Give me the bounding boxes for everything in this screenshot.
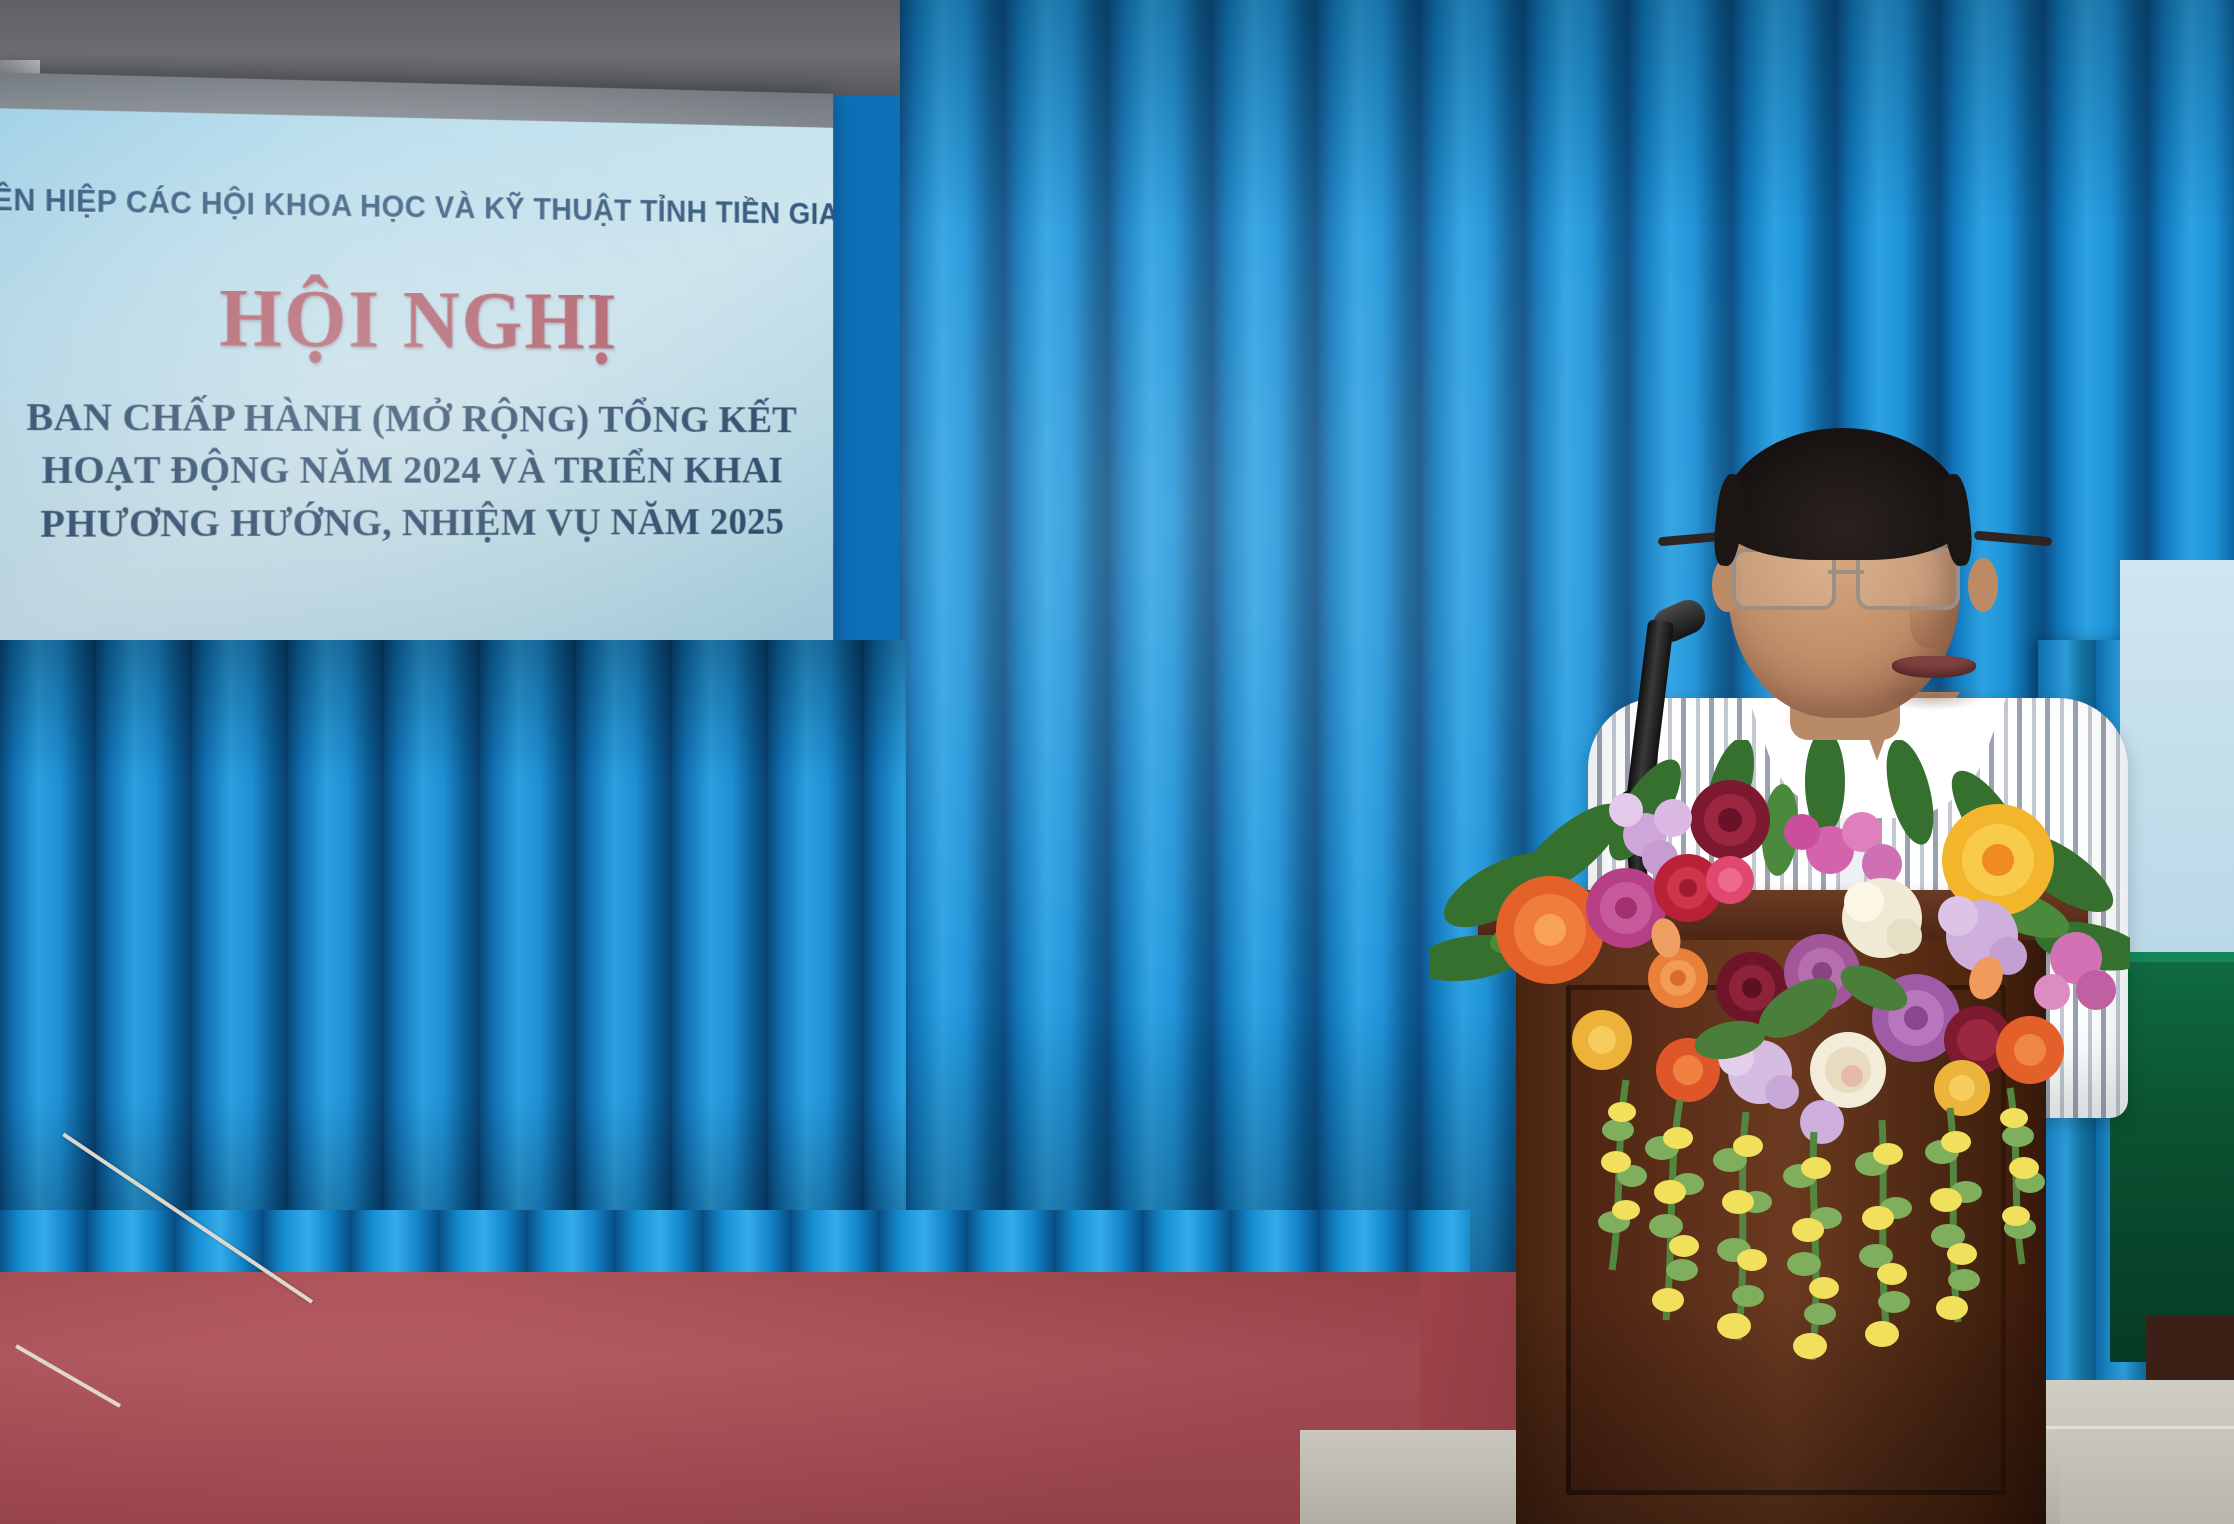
speaker-mouth bbox=[1892, 656, 1976, 678]
flower-pink-cluster bbox=[1784, 812, 1902, 884]
flower-orange-rose-center bbox=[1648, 948, 1708, 1008]
slide-subtitle-block: BAN CHẤP HÀNH (MỞ RỘNG) TỔNG KẾT HOẠT ĐỘ… bbox=[0, 390, 833, 550]
slide-organization-line: LIÊN HIỆP CÁC HỘI KHOA HỌC VÀ KỸ THUẬT T… bbox=[0, 182, 833, 232]
flower-orange-left bbox=[1496, 876, 1604, 984]
red-stage-carpet bbox=[0, 1272, 1520, 1524]
flower-arrangement bbox=[1430, 740, 2130, 1380]
flower-pinkred-bud bbox=[1706, 856, 1754, 904]
flower-yellow-daisy-left bbox=[1572, 1010, 1632, 1070]
conference-photo-scene: LIÊN HIỆP CÁC HỘI KHOA HỌC VÀ KỸ THUẬT T… bbox=[0, 0, 2234, 1524]
speaker-eyebrow-right bbox=[1974, 531, 2052, 547]
speaker-ear-right bbox=[1968, 558, 1998, 612]
speaker-hair bbox=[1720, 428, 1966, 560]
slide-title: HỘI NGHỊ bbox=[0, 268, 833, 371]
chin-shadow bbox=[1858, 686, 2008, 720]
right-wall bbox=[2120, 560, 2234, 1020]
slide-subtitle-line-1: BAN CHẤP HÀNH (MỞ RỘNG) TỔNG KẾT bbox=[0, 390, 833, 445]
flower-darkred-rose bbox=[1690, 780, 1770, 860]
stage-curtain-left bbox=[0, 640, 906, 1290]
screen-top-band bbox=[0, 72, 833, 128]
flower-cream-rose bbox=[1810, 1032, 1886, 1108]
slide-subtitle-line-3: PHƯƠNG HƯỚNG, NHIỆM VỤ NĂM 2025 bbox=[0, 495, 833, 550]
flower-orange-daisy-right bbox=[1996, 1016, 2064, 1084]
flower-arrangement-svg bbox=[1430, 740, 2130, 1380]
flower-yellow-daisy-right bbox=[1934, 1060, 1990, 1116]
slide-subtitle-line-2: HOẠT ĐỘNG NĂM 2024 VÀ TRIỂN KHAI bbox=[0, 443, 833, 496]
eyeglass-bridge bbox=[1828, 570, 1864, 574]
flower-cream-hydrangea bbox=[1842, 878, 1922, 958]
